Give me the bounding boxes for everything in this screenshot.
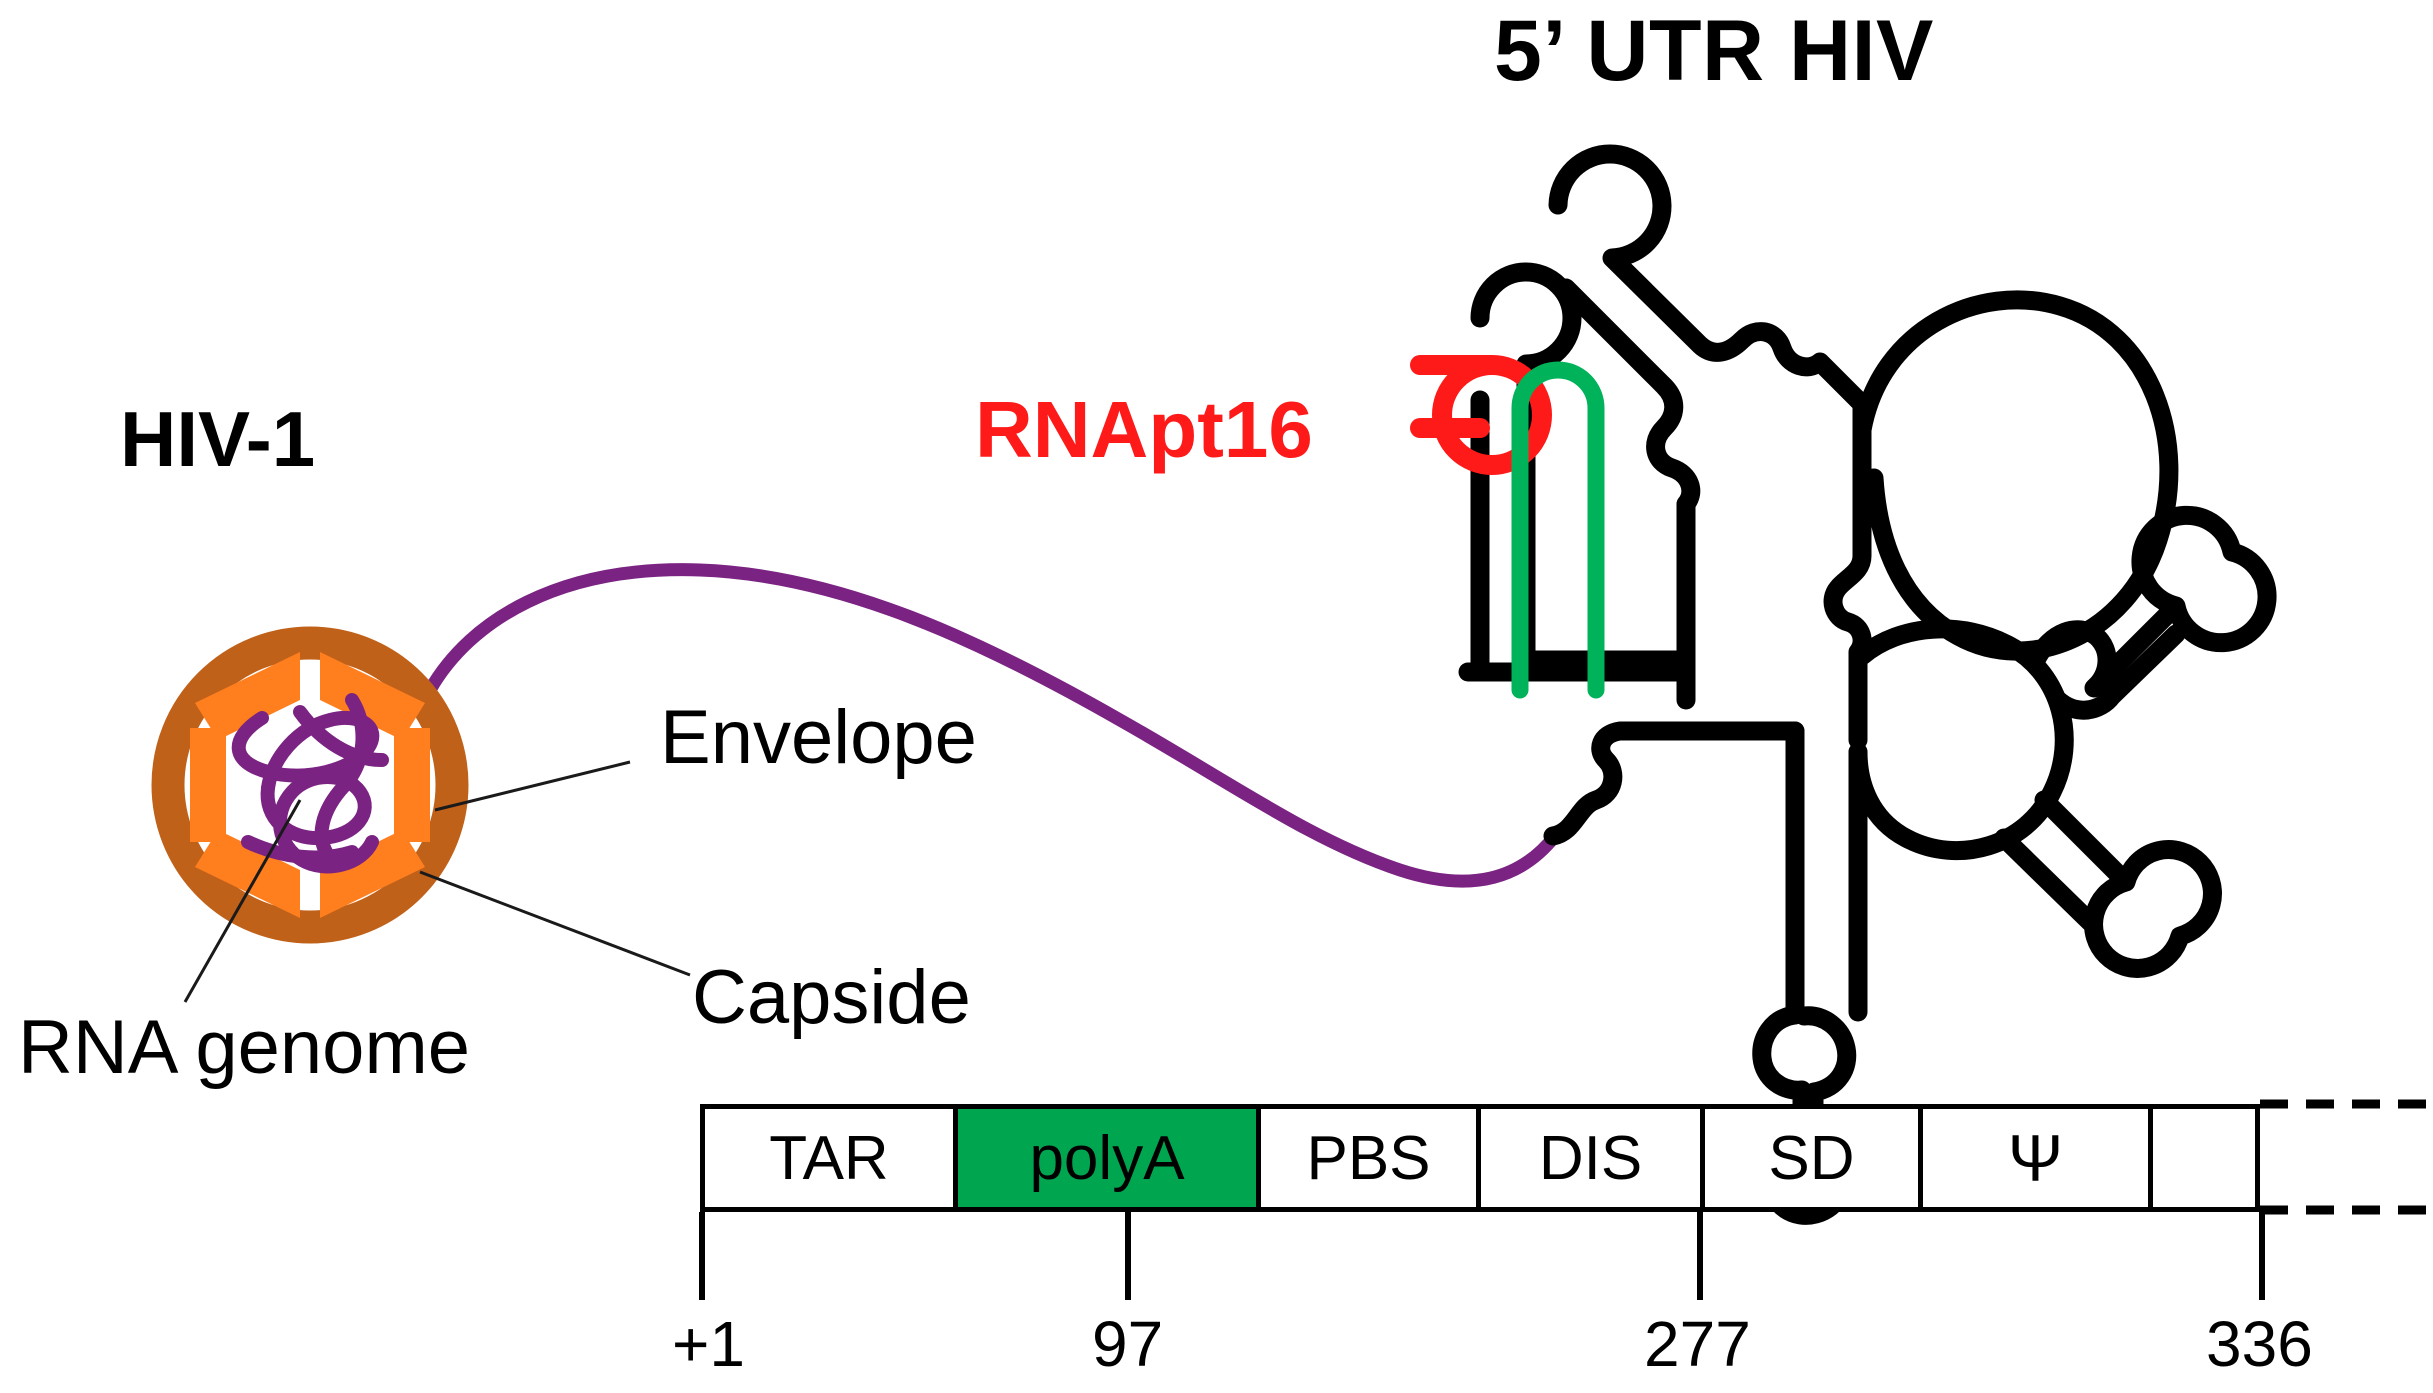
genome-tick-label-97: 97 <box>1092 1312 1163 1376</box>
genome-strand-purple <box>430 570 1555 882</box>
aptamer-label-rnapt16: RNApt16 <box>975 390 1313 470</box>
genome-segment-label-pbs: PBS <box>1306 1123 1430 1194</box>
genome-segment-label-dis: DIS <box>1539 1123 1642 1194</box>
genome-segment-psi[interactable]: Ψ <box>1923 1109 2153 1207</box>
rna-5prime-entry <box>1553 731 1795 836</box>
annotation-label-rna-genome: RNA genome <box>18 1010 470 1086</box>
genome-tick-label-336: 336 <box>2206 1312 2313 1376</box>
virion-particle <box>168 643 452 927</box>
genome-tick-label-277: 277 <box>1644 1312 1751 1376</box>
genome-segment-tar[interactable]: TAR <box>705 1109 958 1207</box>
genome-segment-label-polya: polyA <box>1029 1123 1184 1194</box>
annotation-label-capside: Capside <box>692 960 971 1036</box>
genome-segment-tail <box>2153 1109 2255 1207</box>
leader-capside <box>420 872 690 975</box>
genome-segment-pbs[interactable]: PBS <box>1261 1109 1481 1207</box>
genome-segment-label-sd: SD <box>1768 1123 1854 1194</box>
genome-tick-label-plus1: +1 <box>672 1312 745 1376</box>
figure-canvas: TAR polyA PBS DIS SD Ψ 5’ UTR HIV HIV-1 … <box>0 0 2433 1393</box>
genome-segment-polya[interactable]: polyA <box>958 1109 1261 1207</box>
dis-loop <box>1862 300 2169 651</box>
genome-segment-label-psi: Ψ <box>2008 1120 2063 1196</box>
genome-segment-label-tar: TAR <box>769 1123 888 1194</box>
genome-segment-dis[interactable]: DIS <box>1481 1109 1705 1207</box>
genome-segment-sd[interactable]: SD <box>1705 1109 1923 1207</box>
viral-rna-genome-tangle <box>239 700 382 866</box>
genome-tick-marks <box>702 1212 2262 1300</box>
sd-hairpin <box>2036 515 2267 710</box>
page-title-hiv1: HIV-1 <box>120 400 315 478</box>
annotation-label-envelope: Envelope <box>660 700 977 776</box>
page-title-5utr-hiv: 5’ UTR HIV <box>1494 8 1934 94</box>
genome-map-bar: TAR polyA PBS DIS SD Ψ <box>700 1104 2260 1212</box>
